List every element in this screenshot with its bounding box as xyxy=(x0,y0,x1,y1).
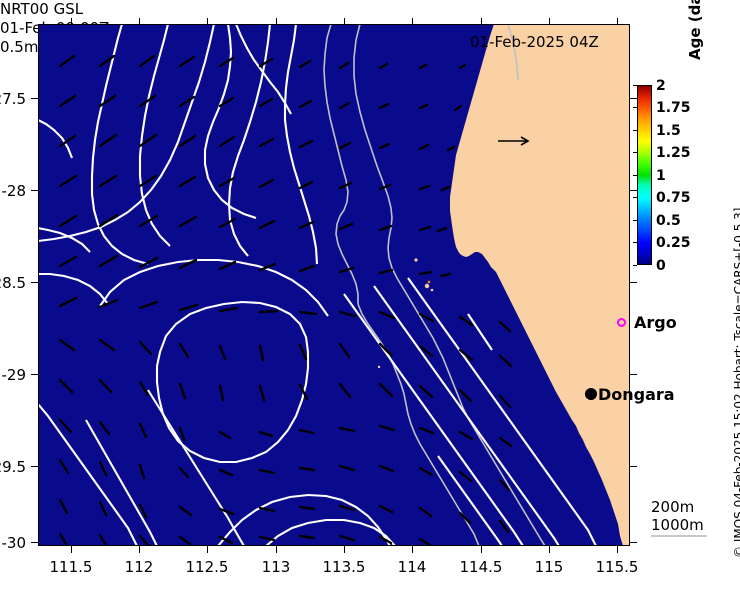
x-tick-label: 111.5 xyxy=(36,558,106,576)
island-dot xyxy=(414,258,417,261)
argo-marker-icon xyxy=(617,318,626,327)
colorbar-tick-label: 1.5 xyxy=(656,123,681,139)
colorbar xyxy=(637,85,652,265)
colorbar-tick-label: 0 xyxy=(656,258,666,274)
x-tick-label: 114 xyxy=(377,558,447,576)
colorbar-tick-label: 1.25 xyxy=(656,145,691,161)
x-tick-label: 112.5 xyxy=(172,558,242,576)
colorbar-title: Age (days) of filled SST (wrt latest) xyxy=(686,0,704,60)
credit-text: © IMOS 04-Feb-2025 15:02 Hobart; Tscale=… xyxy=(732,0,740,558)
colorbar-tick-label: 2 xyxy=(656,78,666,94)
dongara-marker-icon xyxy=(585,388,597,400)
map-graphic xyxy=(38,24,630,546)
x-tick-label: 114.5 xyxy=(446,558,516,576)
map-plot-area xyxy=(38,24,630,546)
y-tick-label: -27.5 xyxy=(0,90,26,108)
x-tick-label: 112 xyxy=(104,558,174,576)
island-dot xyxy=(431,289,434,292)
y-tick-label: -29.5 xyxy=(0,458,26,476)
bathymetry-key: 200m 1000m xyxy=(651,498,704,534)
dongara-place-label: Dongara xyxy=(598,385,675,404)
y-tick-label: -29 xyxy=(0,366,26,384)
colorbar-tick-label: 0.25 xyxy=(656,235,691,251)
island-dot xyxy=(428,281,431,284)
gsl-product-label: NRT00 GSL xyxy=(0,0,740,19)
x-tick-label: 113 xyxy=(241,558,311,576)
y-tick-label: -28.5 xyxy=(0,274,26,292)
bathy-1000m-label: 1000m xyxy=(651,516,704,534)
x-tick-label: 113.5 xyxy=(309,558,379,576)
island-dot xyxy=(425,284,429,288)
x-tick-label: 115.5 xyxy=(582,558,652,576)
argo-legend-label: Argo xyxy=(634,313,677,332)
colorbar-tick-label: 0.5 xyxy=(656,213,681,229)
bathy-200m-label: 200m xyxy=(651,498,704,516)
y-tick-label: -28 xyxy=(0,182,26,200)
colorbar-tick-label: 1.75 xyxy=(656,100,691,116)
date-label: 01-Feb-2025 04Z xyxy=(470,33,599,51)
bathymetry-key-rule xyxy=(651,535,707,537)
y-tick-label: -30 xyxy=(0,534,26,552)
colorbar-tick-label: 0.75 xyxy=(656,190,691,206)
velocity-scale-arrow-icon xyxy=(497,135,531,147)
figure-canvas: 111.5 112 112.5 113 113.5 114 114.5 115 … xyxy=(0,0,740,592)
colorbar-tick-label: 1 xyxy=(656,168,666,184)
island-dot xyxy=(378,366,380,368)
x-tick-label: 115 xyxy=(514,558,584,576)
